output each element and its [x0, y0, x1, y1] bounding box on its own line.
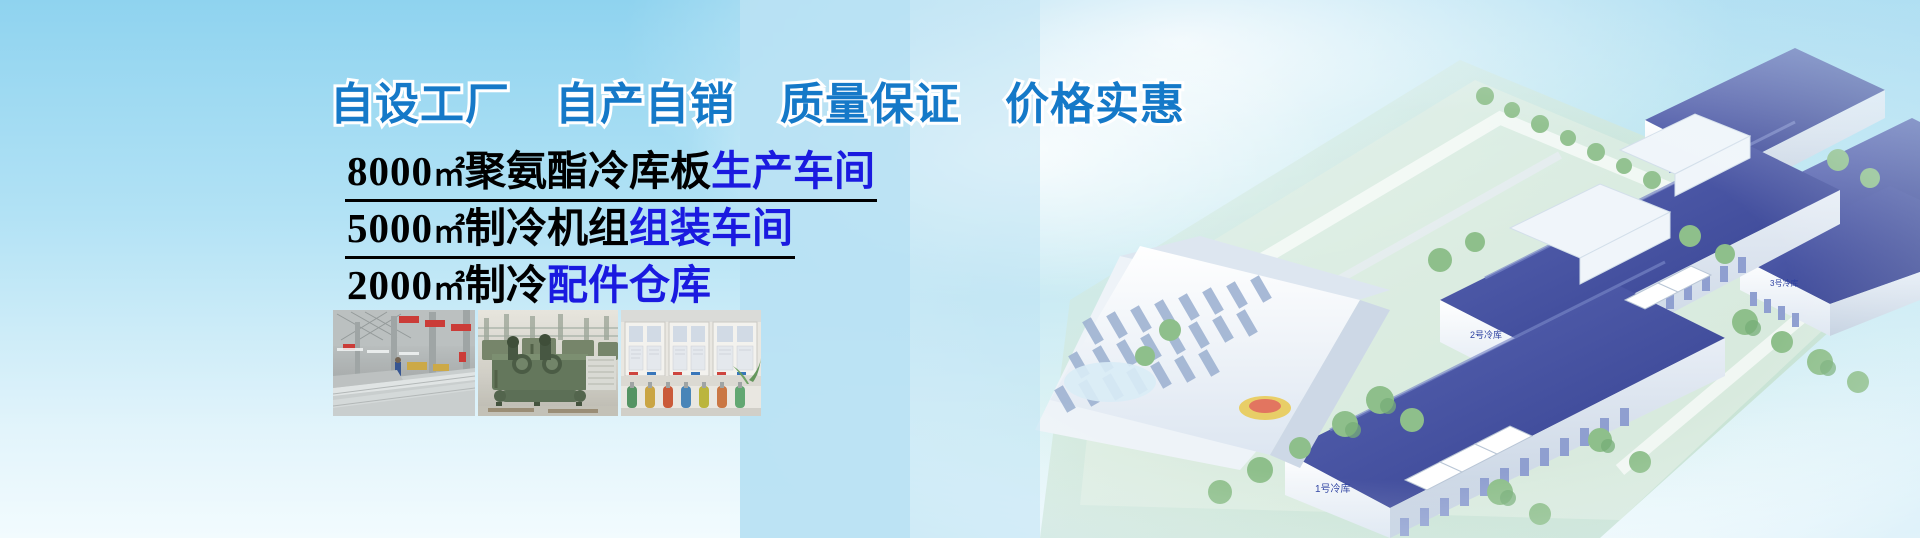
headline: 自设工厂 自产自销 质量保证 价格实惠	[330, 68, 1185, 132]
spec-1-number: 8000	[347, 148, 433, 194]
spec-3-number: 2000	[347, 262, 433, 308]
spec-lines: 8000㎡聚氨酯冷库板生产车间 5000㎡制冷机组组装车间 2000㎡制冷配件仓…	[345, 148, 877, 316]
spec-2-number: 5000	[347, 205, 433, 251]
headline-text: 自设工厂 自产自销 质量保证 价格实惠	[330, 80, 1185, 129]
spec-line-row: 5000㎡制冷机组组装车间	[345, 205, 877, 262]
photo-factory-interior	[333, 310, 475, 416]
spec-line-1: 8000㎡聚氨酯冷库板生产车间	[345, 148, 877, 202]
spec-1-black: 聚氨酯冷库板	[465, 148, 711, 194]
photo-3-svg	[621, 310, 761, 416]
promo-banner: 4号冷库 3号冷库	[0, 0, 1920, 538]
spec-2-blue: 组装车间	[629, 205, 793, 251]
spec-line-row: 8000㎡聚氨酯冷库板生产车间	[345, 148, 877, 205]
spec-line-2: 5000㎡制冷机组组装车间	[345, 205, 795, 259]
spec-3-unit: ㎡	[433, 270, 465, 306]
photo-strip	[333, 310, 761, 416]
spec-3-blue: 配件仓库	[547, 262, 711, 308]
spec-1-unit: ㎡	[433, 156, 465, 192]
photo-1-svg	[333, 310, 475, 416]
spec-2-black: 制冷机组	[465, 205, 629, 251]
spec-1-blue: 生产车间	[711, 148, 875, 194]
spec-3-black: 制冷	[465, 262, 547, 308]
photo-parts-showroom	[621, 310, 761, 416]
photo-compressor-units	[478, 310, 618, 416]
spec-2-unit: ㎡	[433, 213, 465, 249]
photo-2-svg	[478, 310, 618, 416]
spec-line-row: 2000㎡制冷配件仓库	[345, 262, 877, 316]
spec-line-3: 2000㎡制冷配件仓库	[345, 262, 713, 313]
